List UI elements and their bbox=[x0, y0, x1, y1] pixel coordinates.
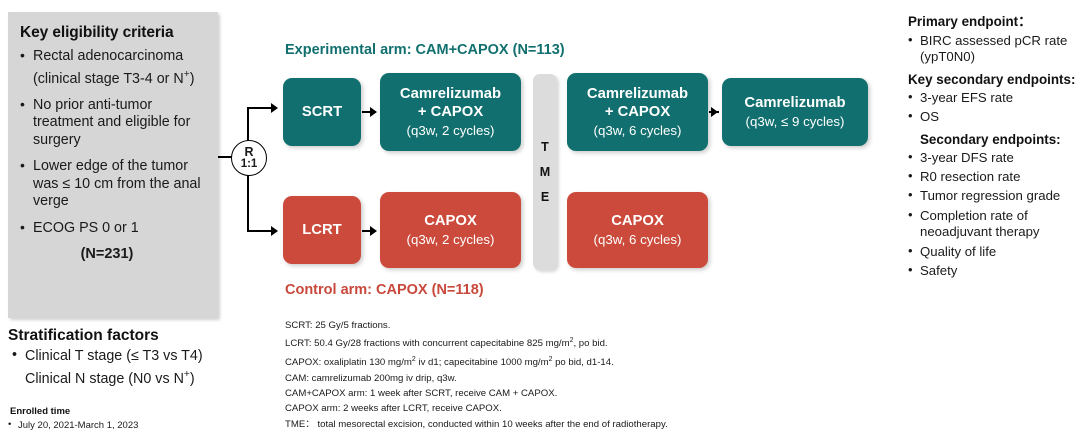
box-subtitle: (q3w, ≤ 9 cycles) bbox=[746, 113, 845, 130]
footnote: CAM: camrelizumab 200mg iv drip, q3w. bbox=[285, 371, 755, 386]
footnote: CAPOX: oxaliplatin 130 mg/m2 iv d1; cape… bbox=[285, 352, 755, 371]
footnote: TME： total mesorectal excision, conducte… bbox=[285, 417, 755, 432]
connector-to-scrt bbox=[247, 107, 273, 109]
stratification-title: Stratification factors bbox=[8, 327, 159, 345]
list-item: BIRC assessed pCR rate (ypT0N0) bbox=[908, 33, 1080, 66]
eligibility-panel: Key eligibility criteria Rectal adenocar… bbox=[8, 12, 218, 318]
randomization-letter: R bbox=[244, 146, 253, 158]
footnotes: SCRT: 25 Gy/5 fractions. LCRT: 50.4 Gy/2… bbox=[285, 318, 755, 432]
footnote: SCRT: 25 Gy/5 fractions. bbox=[285, 318, 755, 333]
box-title: Camrelizumab+ CAPOX bbox=[400, 85, 501, 121]
tme-letter-t: T bbox=[541, 141, 549, 154]
trial-design-diagram: Key eligibility criteria Rectal adenocar… bbox=[0, 0, 1080, 440]
arrowhead-to-lcrt bbox=[271, 226, 278, 236]
experimental-arm-label: Experimental arm: CAM+CAPOX (N=113) bbox=[285, 42, 565, 58]
list-item: OS bbox=[908, 109, 1080, 125]
list-item: Quality of life bbox=[908, 244, 1080, 260]
list-item: R0 resection rate bbox=[908, 169, 1080, 185]
stratification-list: Clinical T stage (≤ T3 vs T4) Clinical N… bbox=[12, 348, 242, 388]
box-title: SCRT bbox=[302, 103, 342, 121]
list-item: No prior anti-tumor treatment and eligib… bbox=[20, 97, 210, 150]
enrolled-time-title: Enrolled time bbox=[10, 406, 70, 417]
box-camrelizumab-maintenance: Camrelizumab (q3w, ≤ 9 cycles) bbox=[722, 78, 868, 146]
box-title: LCRT bbox=[302, 221, 341, 239]
box-subtitle: (q3w, 2 cycles) bbox=[407, 122, 495, 139]
box-title: Camrelizumab+ CAPOX bbox=[587, 85, 688, 121]
randomization-node: R 1:1 bbox=[231, 140, 267, 176]
arrowhead-to-scrt bbox=[271, 103, 278, 113]
box-title: CAPOX bbox=[424, 212, 477, 230]
primary-endpoint-heading: Primary endpoint： bbox=[908, 10, 1080, 30]
enrolled-time-value: July 20, 2021-March 1, 2023 bbox=[18, 420, 138, 431]
list-item: 3-year EFS rate bbox=[908, 90, 1080, 106]
list-item: Rectal adenocarcinoma (clinical stage T3… bbox=[20, 48, 210, 88]
connector-down-stem bbox=[247, 173, 249, 232]
box-capox-2-cycles: CAPOX (q3w, 2 cycles) bbox=[380, 192, 521, 268]
connector-panel-to-randomization bbox=[218, 156, 232, 158]
list-item: Clinical T stage (≤ T3 vs T4) bbox=[12, 348, 242, 366]
eligibility-title: Key eligibility criteria bbox=[20, 24, 218, 42]
box-subtitle: (q3w, 6 cycles) bbox=[594, 231, 682, 248]
primary-endpoint-list: BIRC assessed pCR rate (ypT0N0) bbox=[908, 33, 1080, 66]
arrowhead-lcrt-to-capox1 bbox=[370, 226, 377, 236]
control-arm-label: Control arm: CAPOX (N=118) bbox=[285, 282, 484, 298]
box-capox-6-cycles: CAPOX (q3w, 6 cycles) bbox=[567, 192, 708, 268]
list-item: 3-year DFS rate bbox=[908, 150, 1080, 166]
list-item: Lower edge of the tumor was ≤ 10 cm from… bbox=[20, 158, 210, 211]
footnote: CAPOX arm: 2 weeks after LCRT, receive C… bbox=[285, 401, 755, 416]
key-secondary-endpoint-list: 3-year EFS rate OS bbox=[908, 90, 1080, 126]
footnote: LCRT: 50.4 Gy/28 fractions with concurre… bbox=[285, 333, 755, 352]
list-item: Clinical N stage (N0 vs N+) bbox=[12, 366, 242, 388]
arrowhead-scrt-to-cam1 bbox=[370, 107, 377, 117]
list-item: ECOG PS 0 or 1 bbox=[20, 220, 210, 238]
box-tme: T M E bbox=[533, 74, 557, 270]
box-title: Camrelizumab bbox=[744, 94, 845, 112]
eligibility-total: (N=231) bbox=[8, 246, 218, 262]
box-subtitle: (q3w, 6 cycles) bbox=[594, 122, 682, 139]
tme-letter-e: E bbox=[541, 191, 549, 204]
box-scrt: SCRT bbox=[283, 78, 361, 146]
randomization-ratio: 1:1 bbox=[241, 158, 258, 170]
secondary-endpoint-list: 3-year DFS rate R0 resection rate Tumor … bbox=[908, 150, 1080, 280]
list-item: Tumor regression grade bbox=[908, 188, 1080, 204]
arrowhead-cam2-to-maint bbox=[711, 107, 718, 117]
box-title: CAPOX bbox=[611, 212, 664, 230]
list-item: Safety bbox=[908, 263, 1080, 279]
eligibility-list: Rectal adenocarcinoma (clinical stage T3… bbox=[8, 48, 218, 237]
connector-up-stem bbox=[247, 107, 249, 141]
box-subtitle: (q3w, 2 cycles) bbox=[407, 231, 495, 248]
tme-letter-m: M bbox=[540, 166, 550, 179]
footnote: CAM+CAPOX arm: 1 week after SCRT, receiv… bbox=[285, 386, 755, 401]
list-item: Completion rate of neoadjuvant therapy bbox=[908, 208, 1080, 241]
box-camrelizumab-capox-2-cycles: Camrelizumab+ CAPOX (q3w, 2 cycles) bbox=[380, 73, 521, 151]
connector-to-lcrt bbox=[247, 230, 273, 232]
secondary-endpoints-heading: Secondary endpoints: bbox=[920, 132, 1080, 147]
box-camrelizumab-capox-6-cycles: Camrelizumab+ CAPOX (q3w, 6 cycles) bbox=[567, 73, 708, 151]
box-lcrt: LCRT bbox=[283, 196, 361, 264]
key-secondary-endpoints-heading: Key secondary endpoints: bbox=[908, 72, 1080, 87]
endpoints-column: Primary endpoint： BIRC assessed pCR rate… bbox=[908, 10, 1080, 285]
